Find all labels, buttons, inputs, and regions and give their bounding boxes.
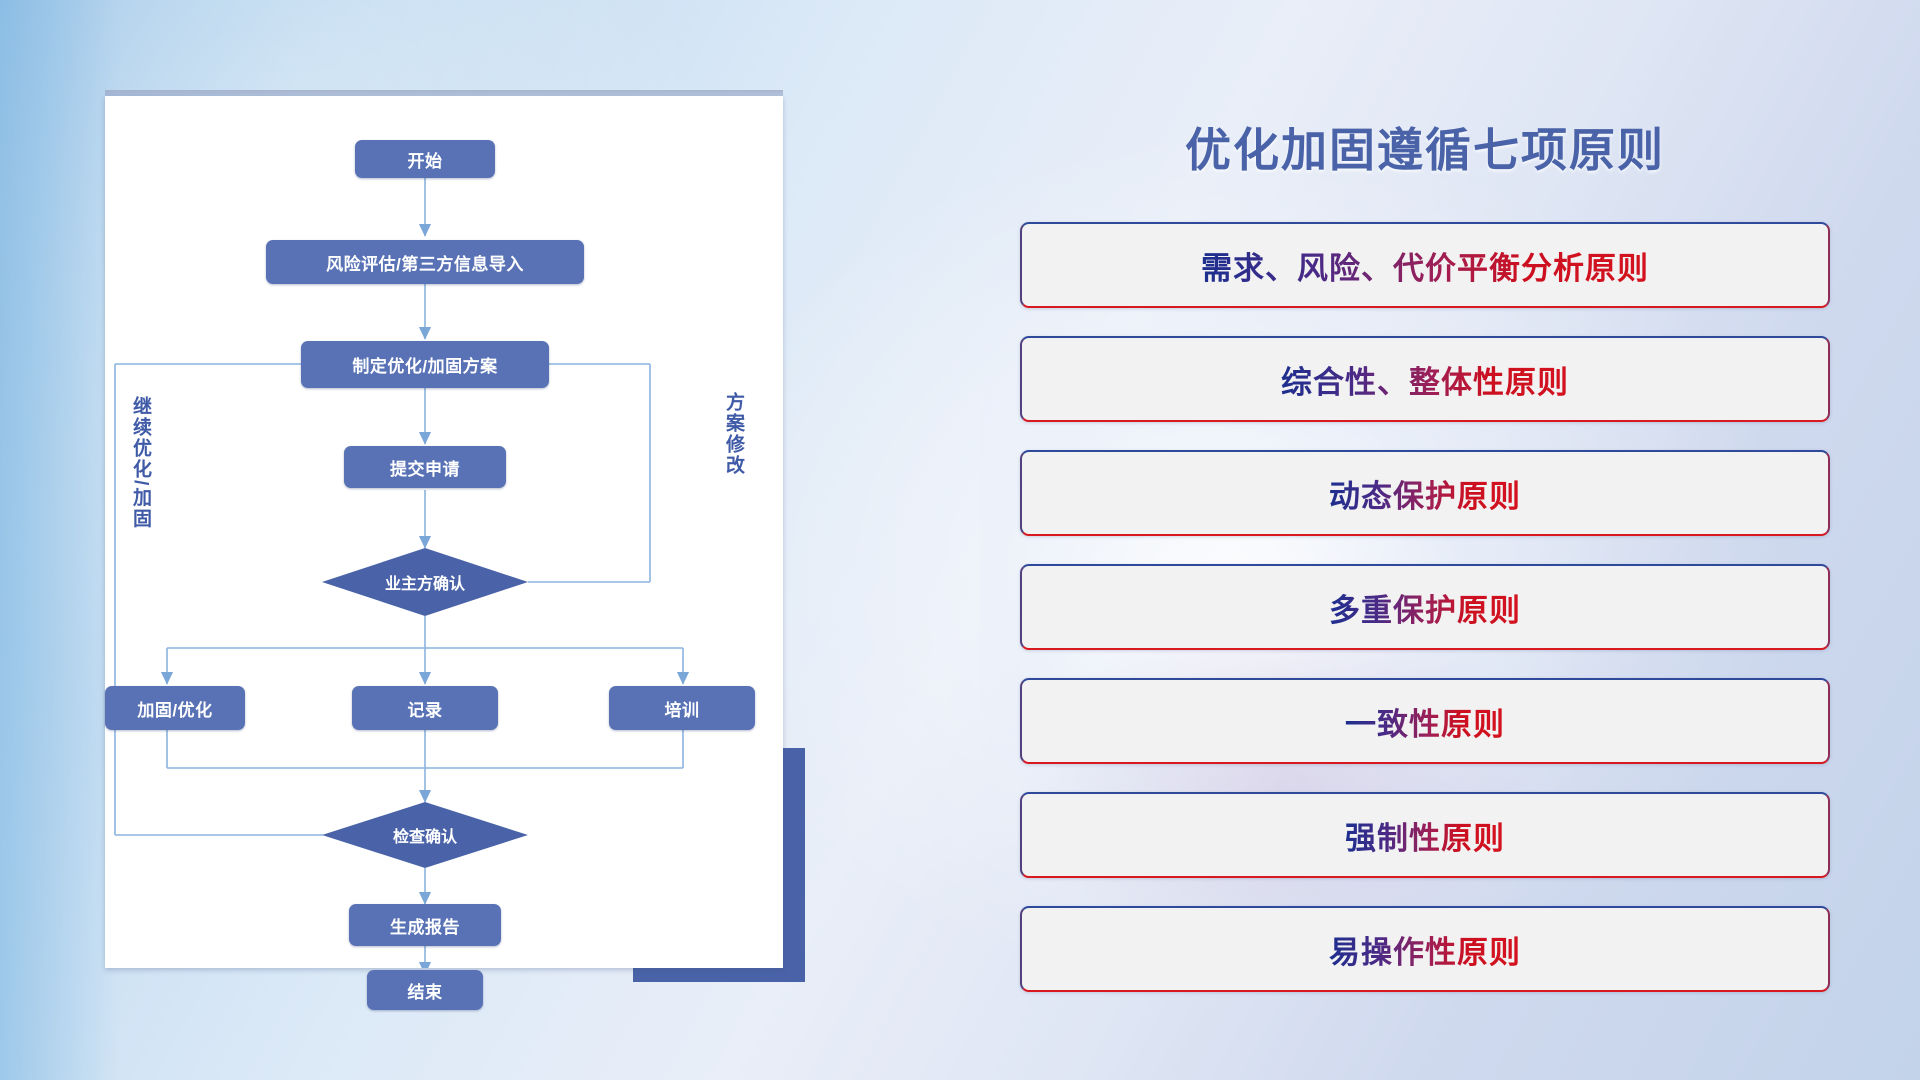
flow-node-record-label: 记录	[408, 696, 443, 721]
principle-item[interactable]: 综合性、整体性原则	[1020, 336, 1830, 422]
flow-node-plan-label: 制定优化/加固方案	[352, 352, 497, 377]
flow-node-record[interactable]: 记录	[352, 686, 498, 730]
principle-item[interactable]: 动态保护原则	[1020, 450, 1830, 536]
principle-item-label: 一致性原则	[1345, 699, 1505, 744]
background-left-band	[0, 0, 120, 1080]
flow-decision-check-confirm[interactable]: 检查确认	[322, 802, 528, 868]
principle-item-label: 需求、风险、代价平衡分析原则	[1201, 243, 1649, 288]
principle-item[interactable]: 易操作性原则	[1020, 906, 1830, 992]
flow-node-risk-assessment[interactable]: 风险评估/第三方信息导入	[266, 240, 584, 284]
flow-node-submit-label: 提交申请	[390, 455, 460, 480]
principle-item[interactable]: 多重保护原则	[1020, 564, 1830, 650]
flow-edge-label-left-loop: 继续优化/加固	[130, 396, 150, 566]
principle-item-label: 动态保护原则	[1329, 471, 1521, 516]
flow-node-start[interactable]: 开始	[355, 140, 495, 178]
principle-item[interactable]: 一致性原则	[1020, 678, 1830, 764]
flow-node-submit[interactable]: 提交申请	[344, 446, 506, 488]
flow-node-end-label: 结束	[408, 978, 443, 1003]
flow-node-training-label: 培训	[665, 696, 700, 721]
flow-node-start-label: 开始	[408, 147, 443, 172]
flowchart: 开始 风险评估/第三方信息导入 制定优化/加固方案 提交申请 业主方确认 加固/…	[105, 96, 783, 968]
principle-item-label: 综合性、整体性原则	[1281, 357, 1569, 402]
flow-decision-owner-confirm-label: 业主方确认	[385, 570, 465, 594]
principles-list: 需求、风险、代价平衡分析原则 综合性、整体性原则 动态保护原则 多重保护原则 一…	[1020, 222, 1830, 1020]
flow-node-reinforce[interactable]: 加固/优化	[105, 686, 245, 730]
page-title: 优化加固遵循七项原则	[1020, 114, 1830, 180]
flow-node-reinforce-label: 加固/优化	[137, 696, 212, 721]
principle-item-label: 多重保护原则	[1329, 585, 1521, 630]
flow-node-plan[interactable]: 制定优化/加固方案	[301, 341, 549, 388]
principle-item[interactable]: 需求、风险、代价平衡分析原则	[1020, 222, 1830, 308]
flow-node-end[interactable]: 结束	[367, 970, 483, 1010]
principle-item[interactable]: 强制性原则	[1020, 792, 1830, 878]
flow-node-risk-assessment-label: 风险评估/第三方信息导入	[326, 250, 524, 275]
flow-node-report-label: 生成报告	[390, 913, 460, 938]
flow-decision-check-confirm-label: 检查确认	[393, 823, 457, 847]
flow-decision-owner-confirm[interactable]: 业主方确认	[322, 548, 528, 616]
flow-node-training[interactable]: 培训	[609, 686, 755, 730]
principle-item-label: 易操作性原则	[1329, 927, 1521, 972]
flow-node-report[interactable]: 生成报告	[349, 904, 501, 946]
flow-edge-label-right-loop: 方案修改	[723, 392, 743, 522]
principles-panel: 优化加固遵循七项原则 需求、风险、代价平衡分析原则 综合性、整体性原则 动态保护…	[1020, 96, 1830, 1016]
principle-item-label: 强制性原则	[1345, 813, 1505, 858]
